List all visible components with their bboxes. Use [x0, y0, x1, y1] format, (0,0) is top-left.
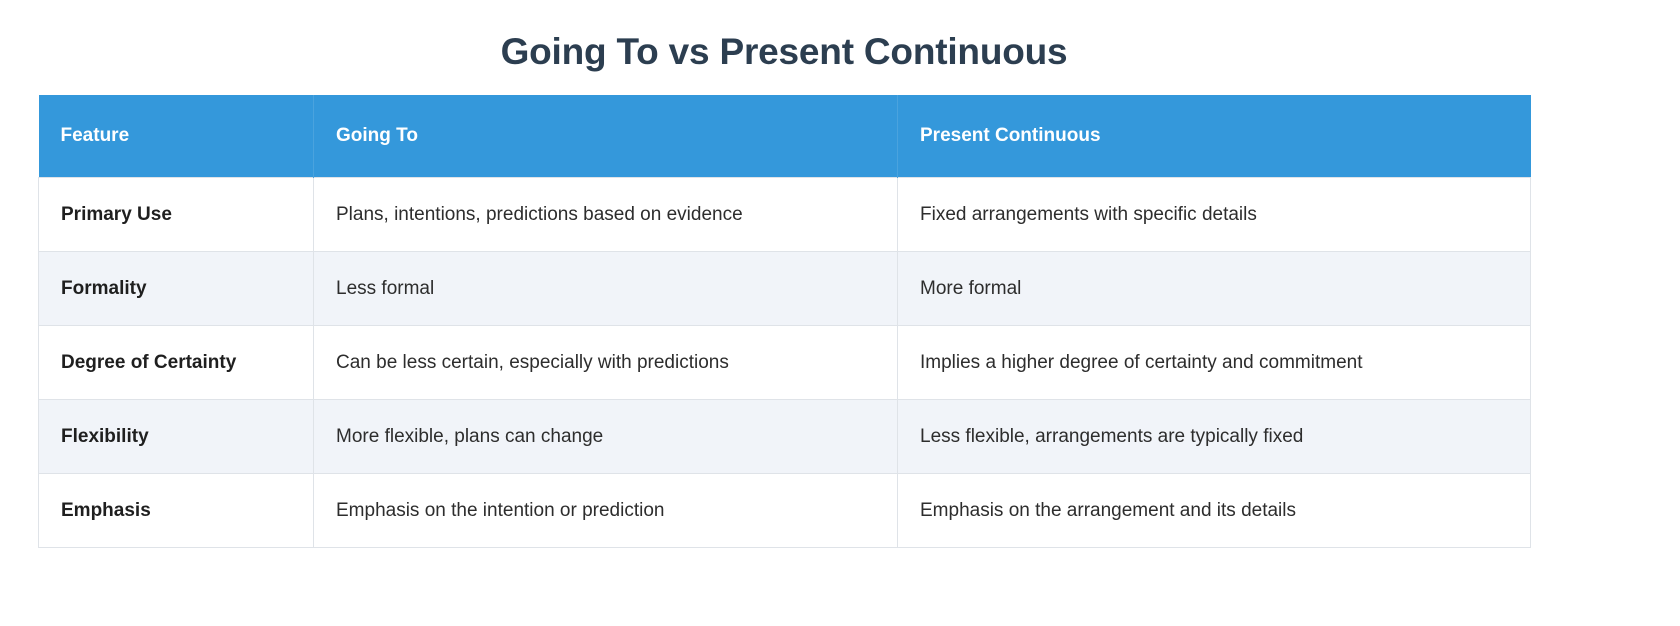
table-row: Formality Less formal More formal	[39, 252, 1531, 326]
page-title: Going To vs Present Continuous	[0, 0, 1568, 74]
column-header-feature: Feature	[39, 95, 314, 178]
cell-feature: Primary Use	[39, 178, 314, 252]
cell-feature: Degree of Certainty	[39, 326, 314, 400]
table-row: Emphasis Emphasis on the intention or pr…	[39, 474, 1531, 548]
table-row: Degree of Certainty Can be less certain,…	[39, 326, 1531, 400]
cell-feature: Formality	[39, 252, 314, 326]
table-body: Primary Use Plans, intentions, predictio…	[39, 178, 1531, 548]
comparison-table-container: Feature Going To Present Continuous Prim…	[38, 95, 1530, 548]
table-row: Primary Use Plans, intentions, predictio…	[39, 178, 1531, 252]
cell-present-continuous: Less flexible, arrangements are typicall…	[898, 400, 1531, 474]
cell-present-continuous: More formal	[898, 252, 1531, 326]
cell-going-to: Emphasis on the intention or prediction	[314, 474, 898, 548]
cell-present-continuous: Emphasis on the arrangement and its deta…	[898, 474, 1531, 548]
table-row: Flexibility More flexible, plans can cha…	[39, 400, 1531, 474]
cell-feature: Emphasis	[39, 474, 314, 548]
comparison-table-page: Going To vs Present Continuous Feature G…	[0, 0, 1680, 626]
table-header: Feature Going To Present Continuous	[39, 95, 1531, 178]
cell-present-continuous: Implies a higher degree of certainty and…	[898, 326, 1531, 400]
cell-going-to: More flexible, plans can change	[314, 400, 898, 474]
comparison-table: Feature Going To Present Continuous Prim…	[38, 95, 1531, 548]
cell-feature: Flexibility	[39, 400, 314, 474]
column-header-going-to: Going To	[314, 95, 898, 178]
cell-present-continuous: Fixed arrangements with specific details	[898, 178, 1531, 252]
cell-going-to: Can be less certain, especially with pre…	[314, 326, 898, 400]
cell-going-to: Less formal	[314, 252, 898, 326]
column-header-present-continuous: Present Continuous	[898, 95, 1531, 178]
cell-going-to: Plans, intentions, predictions based on …	[314, 178, 898, 252]
table-header-row: Feature Going To Present Continuous	[39, 95, 1531, 178]
